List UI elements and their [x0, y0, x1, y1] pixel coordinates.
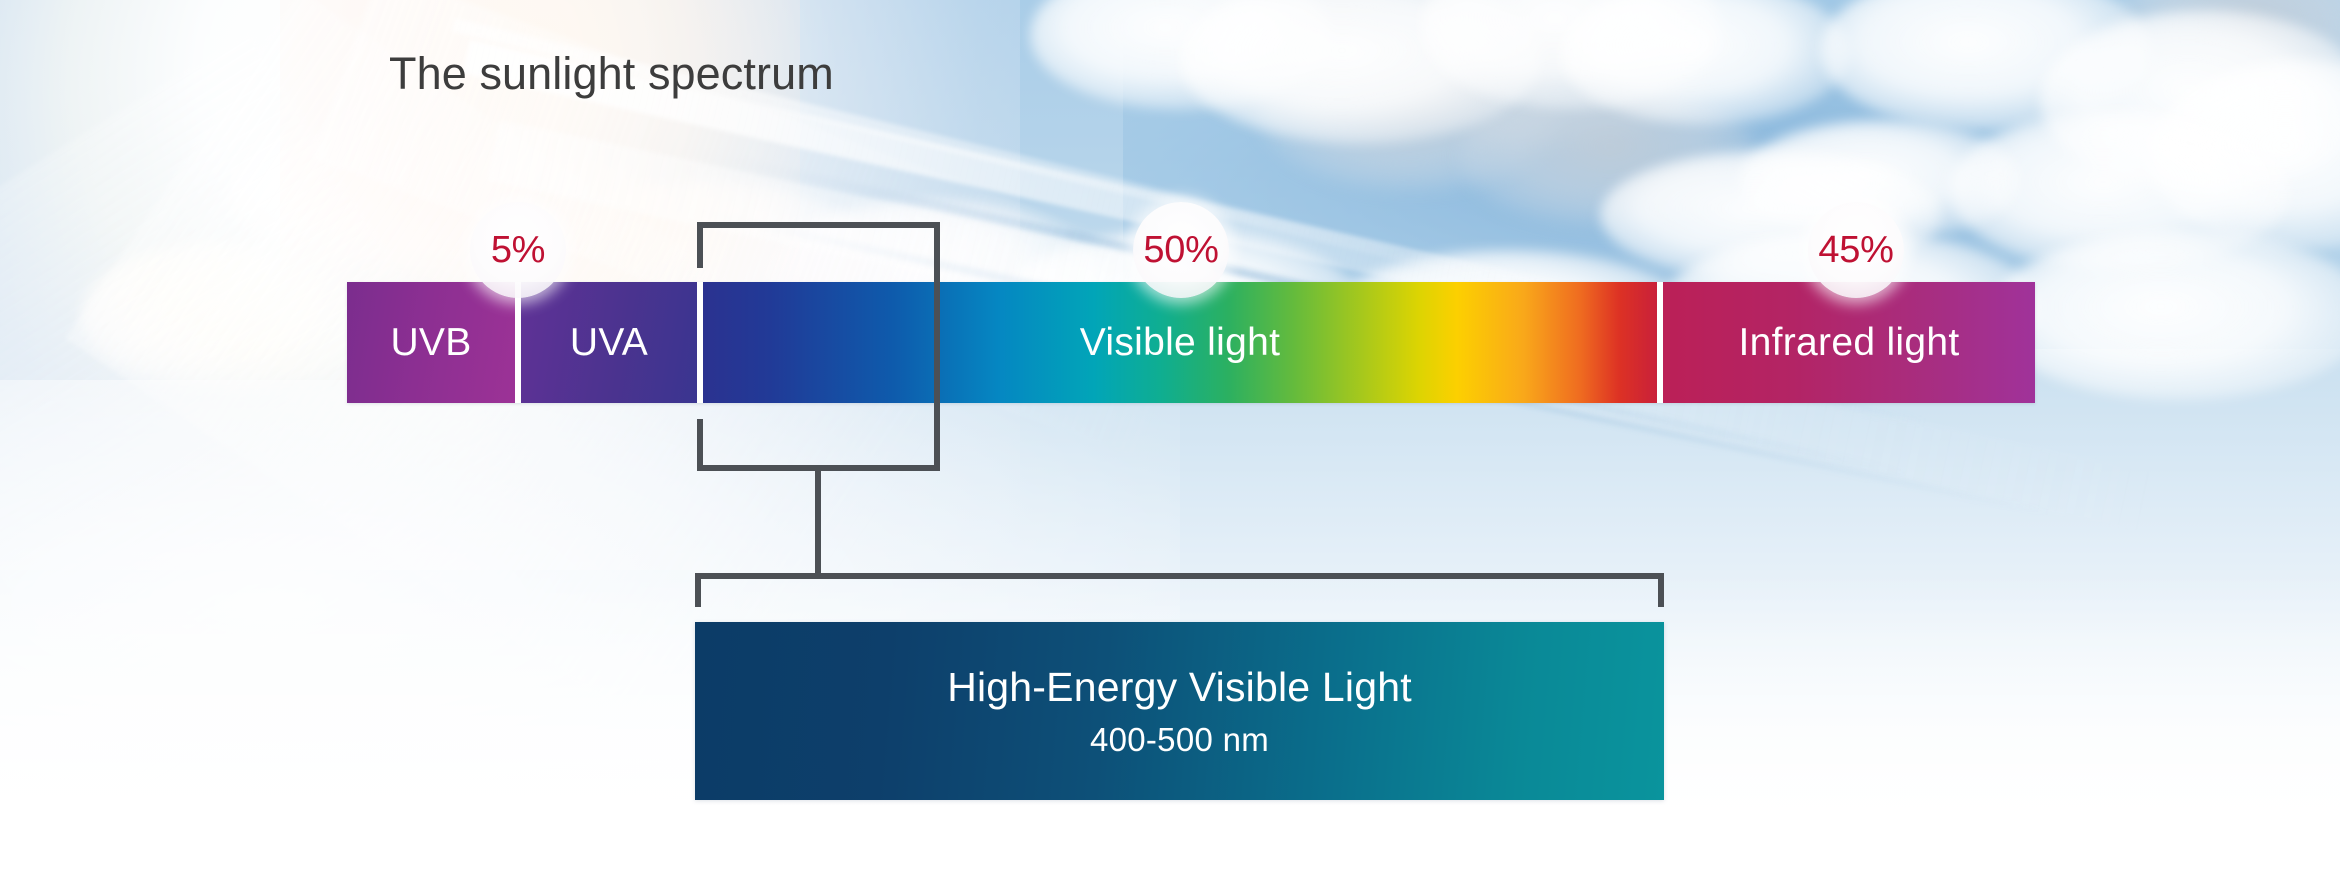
hev-title: High-Energy Visible Light [947, 664, 1412, 711]
upper-bracket-left-stub-top [697, 222, 703, 268]
percentage-badge-infrared-light: 45% [1808, 202, 1904, 298]
spectrum-segment-label: Visible light [1080, 321, 1280, 365]
infographic-canvas: The sunlight spectrum UVB UVA Visible li… [0, 0, 2340, 872]
upper-bracket-top-line [697, 222, 940, 228]
lower-bracket-right-arm [1658, 573, 1664, 607]
high-energy-visible-light-box: High-Energy Visible Light 400-500 nm [695, 622, 1664, 800]
percentage-value: 5% [491, 229, 545, 272]
lower-bracket-left-arm [695, 573, 701, 607]
bracket-connector-line [815, 465, 821, 579]
spectrum-segment-label: Infrared light [1739, 321, 1960, 365]
lower-bracket-top-line [695, 573, 1664, 579]
spectrum-segment-infrared-light[interactable]: Infrared light [1663, 282, 2035, 403]
spectrum-segment-label: UVA [570, 321, 648, 365]
spectrum-segment-visible-light[interactable]: Visible light [703, 282, 1657, 403]
spectrum-segment-uva[interactable]: UVA [521, 282, 697, 403]
spectrum-segment-label: UVB [390, 321, 471, 365]
upper-bracket-right-line [934, 222, 940, 471]
upper-bracket-left-stub-bottom [697, 419, 703, 471]
hev-wavelength-range: 400-500 nm [1090, 721, 1269, 759]
spectrum-segment-uvb[interactable]: UVB [347, 282, 515, 403]
percentage-value: 45% [1818, 229, 1893, 272]
percentage-badge-uv: 5% [470, 202, 566, 298]
percentage-value: 50% [1143, 229, 1218, 272]
page-title: The sunlight spectrum [389, 48, 834, 100]
percentage-badge-visible-light: 50% [1133, 202, 1229, 298]
sunlight-spectrum-bar: UVB UVA Visible light Infrared light [347, 282, 2035, 403]
